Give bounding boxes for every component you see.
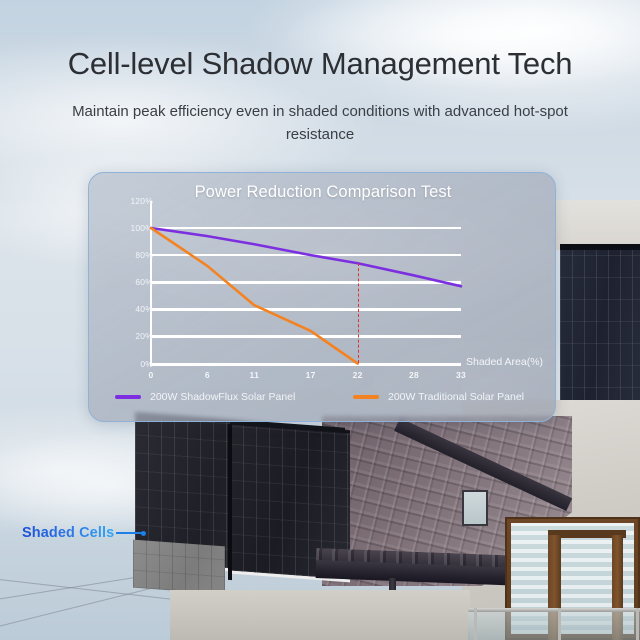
page-title: Cell-level Shadow Management Tech [0, 46, 640, 82]
series-line [151, 228, 461, 286]
x-axis-caption: Shaded Area(%) [466, 356, 543, 368]
leader-dot [141, 531, 146, 536]
legend-label: 200W Traditional Solar Panel [388, 391, 524, 403]
legend-swatch [353, 395, 379, 398]
legend-item: 200W Traditional Solar Panel [353, 391, 524, 403]
right-house-wall [556, 200, 640, 250]
railing-post [636, 608, 639, 640]
chart-panel: Power Reduction Comparison Test 120%100%… [88, 172, 556, 422]
balcony-glass [468, 612, 640, 640]
small-window [462, 490, 488, 526]
legend-swatch [115, 395, 141, 398]
shaded-cells-label: Shaded Cells [22, 525, 114, 541]
house-wall-front [170, 590, 470, 640]
balcony-railing [468, 608, 640, 612]
array-seam [228, 424, 232, 580]
page-subtitle: Maintain peak efficiency even in shaded … [70, 100, 570, 146]
railing-post [558, 608, 561, 640]
chart-legend: 200W ShadowFlux Solar Panel200W Traditio… [115, 391, 545, 409]
shaded-cells-region [133, 540, 225, 595]
shaded-cells-annotation: Shaded Cells [22, 525, 146, 541]
plot-area: 120%100%80%60%40%20%0% 061117222833 Shad… [89, 173, 556, 422]
legend-item: 200W ShadowFlux Solar Panel [115, 391, 295, 403]
leader-line [116, 532, 142, 534]
series-line [151, 228, 358, 364]
railing-post [474, 608, 477, 640]
failure-marker-line [358, 263, 359, 363]
legend-label: 200W ShadowFlux Solar Panel [150, 391, 295, 403]
series-lines [89, 173, 556, 422]
